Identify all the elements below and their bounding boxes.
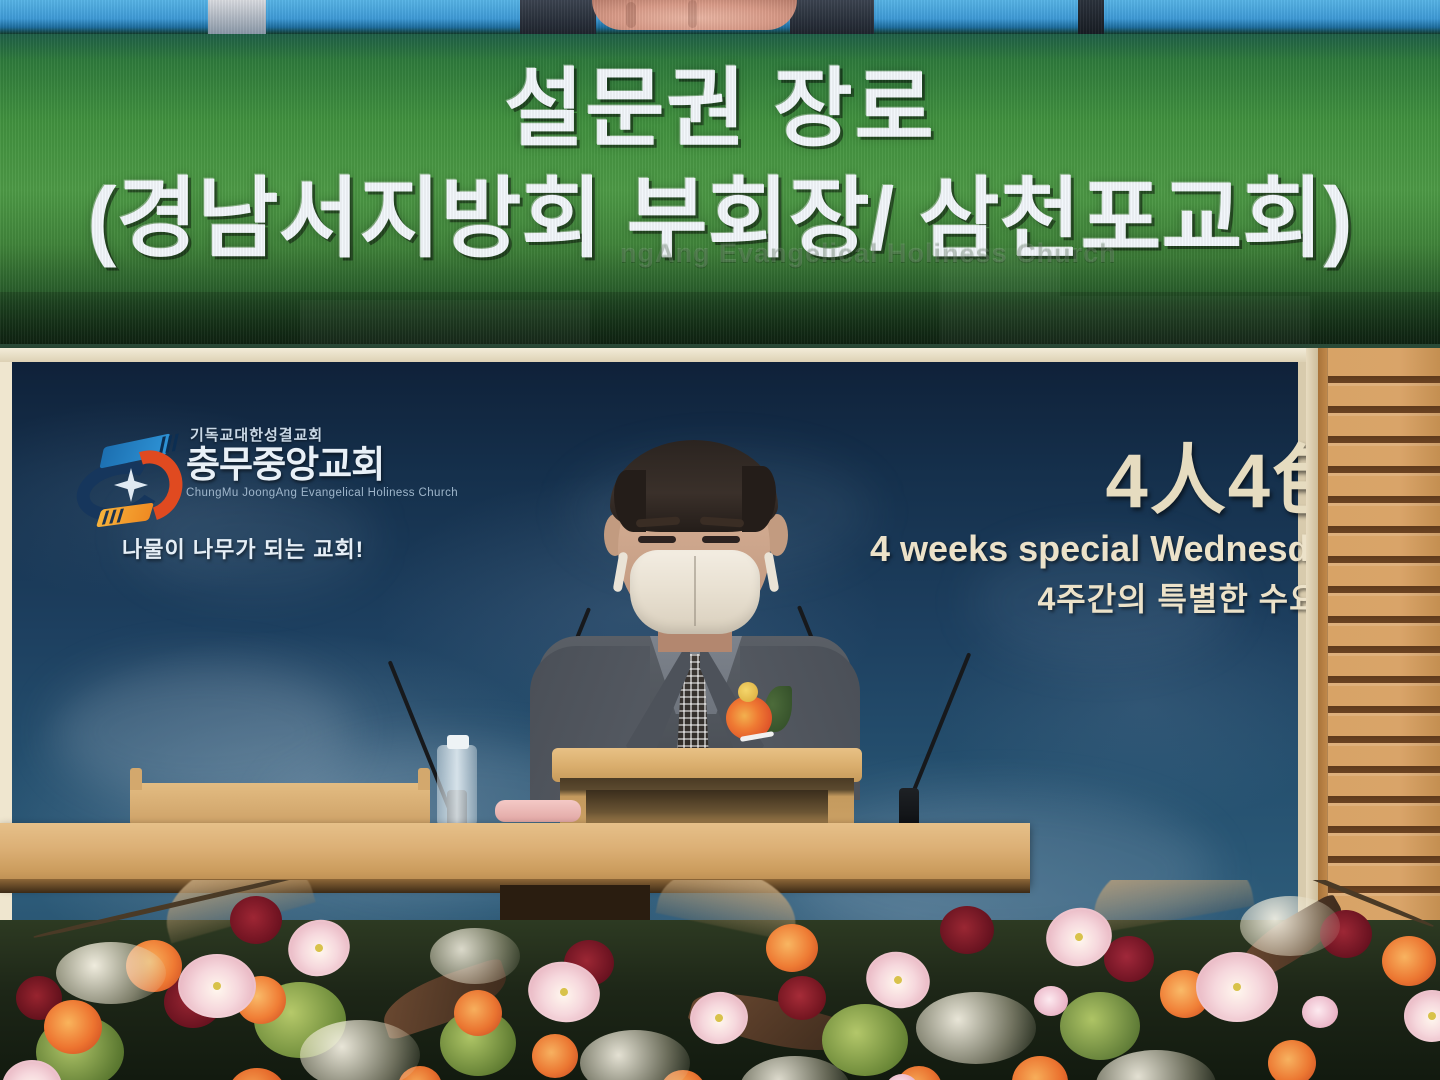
speaker-eye-left (638, 536, 676, 543)
lily-5 (1196, 952, 1278, 1022)
screen-clasped-hands (592, 0, 797, 30)
pulpit-desktop (552, 748, 862, 782)
microphone-base-right (899, 788, 919, 828)
pink-towel (495, 800, 581, 822)
denomination-name: 기독교대한성결교회 (186, 424, 412, 445)
rose-2 (44, 1000, 102, 1054)
screen-silhouette-center-left (520, 0, 596, 34)
rose-7 (766, 924, 818, 972)
water-bottle (437, 745, 477, 825)
rose-6 (532, 1034, 578, 1078)
floral-arrangements (0, 880, 1440, 1080)
church-name-english: ChungMu JoongAng Evangelical Holiness Ch… (186, 487, 412, 499)
screen-title-line1: 설문권 장로 (0, 38, 1440, 163)
louver-slats (1328, 356, 1440, 898)
headline-korean: 4주간의 특별한 수요일 (870, 574, 1350, 620)
church-slogan: 나물이 나무가 되는 교회! (122, 532, 422, 564)
statice-cluster-1 (56, 942, 166, 1004)
screen-silhouette-left (208, 0, 266, 34)
rose-5 (454, 990, 502, 1036)
screen-artifact-right (1060, 296, 1310, 348)
speaker-eye-right (702, 536, 740, 543)
screen-artifact-center (940, 248, 1060, 348)
hydrangea-4 (1060, 992, 1140, 1060)
dahlia-1 (230, 896, 282, 944)
rose-13 (1268, 1040, 1316, 1080)
dahlia-7 (778, 976, 826, 1020)
headline-english: 4 weeks special Wednesday! (870, 528, 1350, 570)
dahlia-4 (940, 906, 994, 954)
statice-cluster-4 (916, 992, 1036, 1064)
corsage-bud (738, 682, 758, 702)
dahlia-5 (1104, 936, 1154, 982)
face-mask (630, 550, 760, 634)
screen-silhouette-center-right (790, 0, 874, 34)
mask-strap-right (764, 552, 780, 593)
speaker-hair (610, 440, 778, 532)
rose-10 (1382, 936, 1436, 986)
banner-frame-top-edge (0, 348, 1306, 362)
projection-screen: 설문권 장로 (경남서지방회 부회장/ 삼천포교회) ngAng Evangel… (0, 0, 1440, 348)
pulpit-shelf-lip-right (418, 768, 430, 790)
church-name-korean: 충무중앙교회 (186, 446, 412, 484)
pulpit-side-shelf (130, 783, 430, 825)
speaker-figure (530, 440, 860, 800)
church-logo-mark-icon (70, 434, 186, 532)
headline-cjk: 4人4色 (870, 444, 1350, 520)
pink-accent-4 (1302, 996, 1338, 1028)
banner-headline-block: 4人4色 4 weeks special Wednesday! 4주간의 특별한… (870, 444, 1350, 620)
church-logo-block: 기독교대한성결교회 충무중앙교회 ChungMu JoongAng Evange… (62, 424, 412, 554)
screen-silhouette-right (1078, 0, 1104, 34)
statice-cluster-7 (430, 928, 520, 984)
screen-artifact-left (300, 300, 590, 348)
pink-accent-3 (1034, 986, 1068, 1016)
statice-cluster-5 (1240, 896, 1340, 956)
pulpit-rail: ChungMu JoongAng Evangelical Holiness Ch… (0, 823, 1030, 885)
church-logo-text: 기독교대한성결교회 충무중앙교회 ChungMu JoongAng Evange… (186, 424, 412, 499)
speaker-corsage (726, 680, 792, 746)
pulpit-shelf-lip-left (130, 768, 142, 790)
lily-1 (178, 954, 256, 1018)
photo-stage: 설문권 장로 (경남서지방회 부회장/ 삼천포교회) ngAng Evangel… (0, 0, 1440, 1080)
water-bottle-cap (447, 735, 469, 749)
